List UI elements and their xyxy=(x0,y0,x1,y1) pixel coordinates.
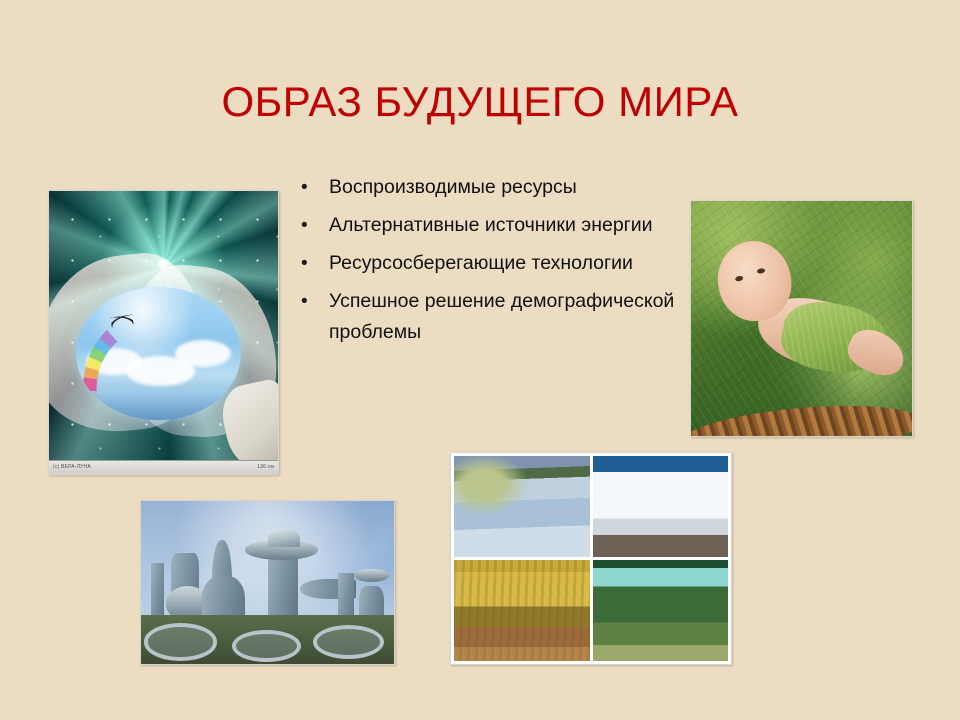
collage-cell-lake-forest xyxy=(593,560,729,661)
list-item-label: Воспроизводимые ресурсы xyxy=(329,172,686,203)
bullet-icon: • xyxy=(296,210,329,241)
dome-shape xyxy=(268,529,301,547)
list-item-label: Успешное решение демографической проблем… xyxy=(329,286,686,348)
baby-eye-shape xyxy=(734,275,743,282)
collage-cell-snow-mountains xyxy=(593,456,729,557)
image-baby-in-cabbage xyxy=(690,200,913,437)
road-ring-shape xyxy=(232,630,301,662)
list-item: • Альтернативные источники энергии xyxy=(296,210,686,241)
bullet-list: • Воспроизводимые ресурсы • Альтернативн… xyxy=(296,172,686,355)
image-future-city xyxy=(140,500,395,665)
slide-canvas: ОБРАЗ БУДУЩЕГО МИРА • Воспроизводимые ре… xyxy=(0,0,960,720)
bullet-icon: • xyxy=(296,172,329,203)
image-nature-collage xyxy=(450,452,732,665)
list-item: • Ресурсосберегающие технологии xyxy=(296,248,686,279)
collage-cell-autumn-forest xyxy=(454,560,590,661)
list-item: • Успешное решение демографической пробл… xyxy=(296,286,686,348)
image-hands-holding-world: (c) ВЕРА-ЛУНА 136 см xyxy=(48,190,279,475)
page-title: ОБРАЗ БУДУЩЕГО МИРА xyxy=(0,76,960,128)
collage-cell-river xyxy=(454,456,590,557)
list-item-label: Альтернативные источники энергии xyxy=(329,210,686,241)
list-item: • Воспроизводимые ресурсы xyxy=(296,172,686,203)
bullet-icon: • xyxy=(296,286,329,317)
image-caption-bar: (c) ВЕРА-ЛУНА 136 см xyxy=(49,460,278,474)
crystal-sphere xyxy=(76,287,241,420)
caption-left-text: (c) ВЕРА-ЛУНА xyxy=(53,461,91,474)
road-ring-shape xyxy=(144,623,218,660)
road-ring-shape xyxy=(313,625,384,659)
list-item-label: Ресурсосберегающие технологии xyxy=(329,248,686,279)
caption-right-text: 136 см xyxy=(257,461,274,474)
bullet-icon: • xyxy=(296,248,329,279)
baby-eye-shape xyxy=(756,267,765,274)
water-reflection xyxy=(76,391,241,420)
